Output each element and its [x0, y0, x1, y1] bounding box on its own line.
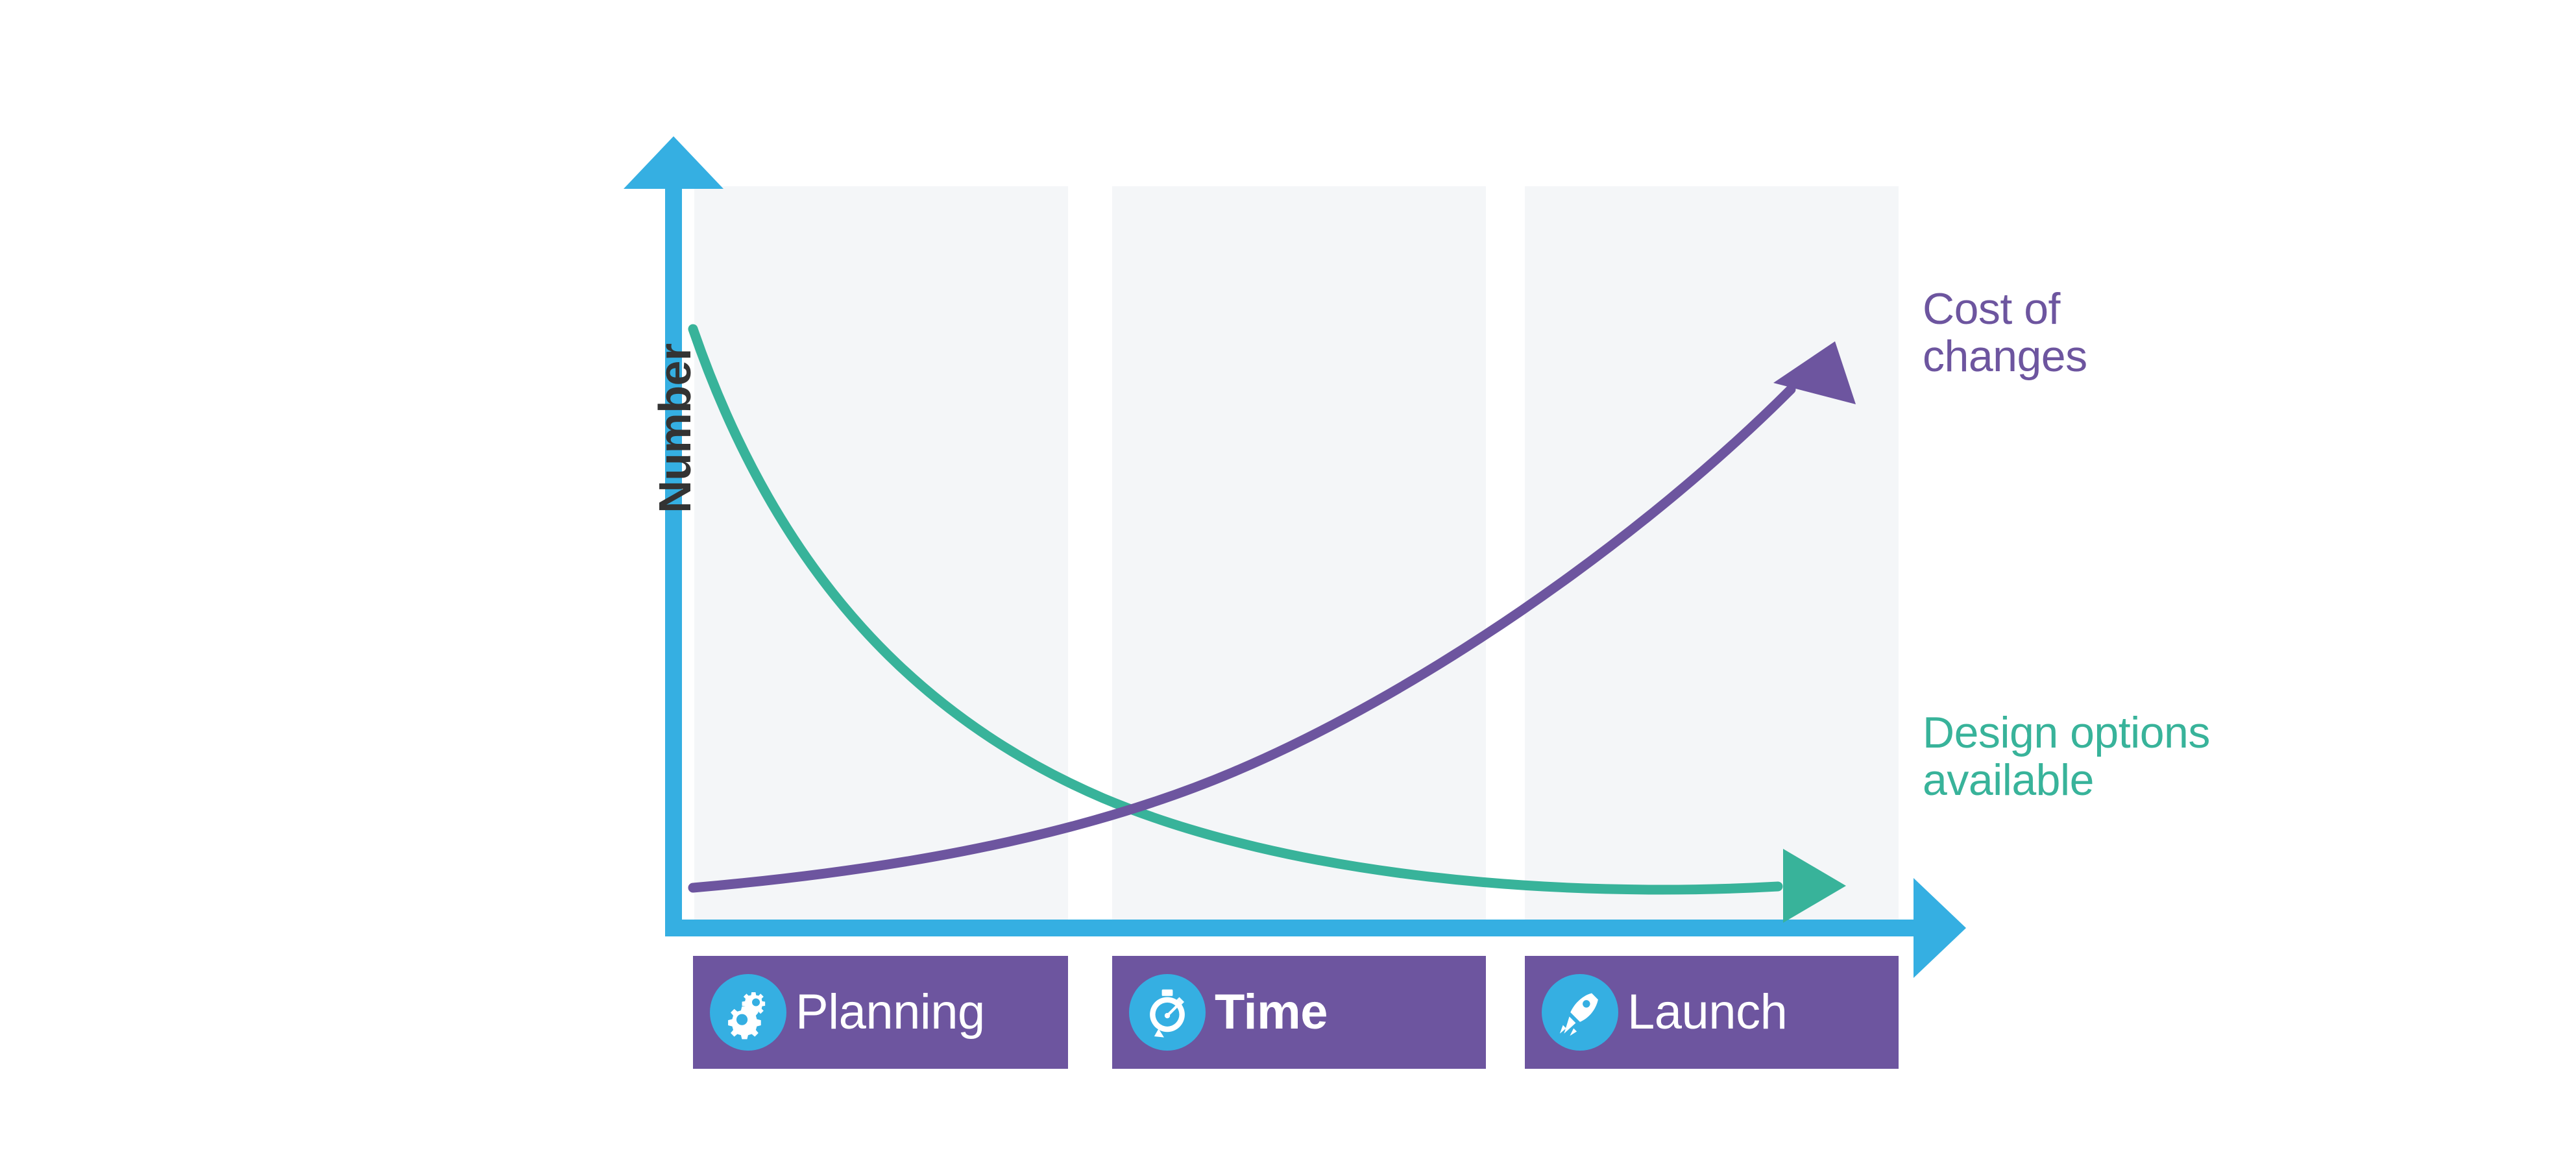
legend-label-cost-of-changes: Cost of changes: [1923, 286, 2087, 381]
phase-band-planning: [694, 186, 1068, 920]
phase-band-time: [1112, 186, 1486, 920]
stopwatch-icon: [1129, 974, 1206, 1051]
phase-label-planning: Planning: [796, 988, 985, 1037]
y-axis-title: Number: [649, 292, 701, 565]
gears-icon: [710, 974, 786, 1051]
phase-bar-time[interactable]: Time: [1112, 956, 1486, 1069]
phase-label-time: Time: [1215, 988, 1328, 1037]
diagram-canvas: Number Cost of changes Design options av…: [0, 0, 2576, 1159]
legend-label-design-options: Design options available: [1923, 709, 2210, 805]
phase-band-launch: [1525, 186, 1899, 920]
rocket-icon: [1542, 974, 1618, 1051]
phase-bar-planning[interactable]: Planning: [693, 956, 1068, 1069]
phase-bar-launch[interactable]: Launch: [1525, 956, 1899, 1069]
phase-label-launch: Launch: [1627, 988, 1787, 1037]
